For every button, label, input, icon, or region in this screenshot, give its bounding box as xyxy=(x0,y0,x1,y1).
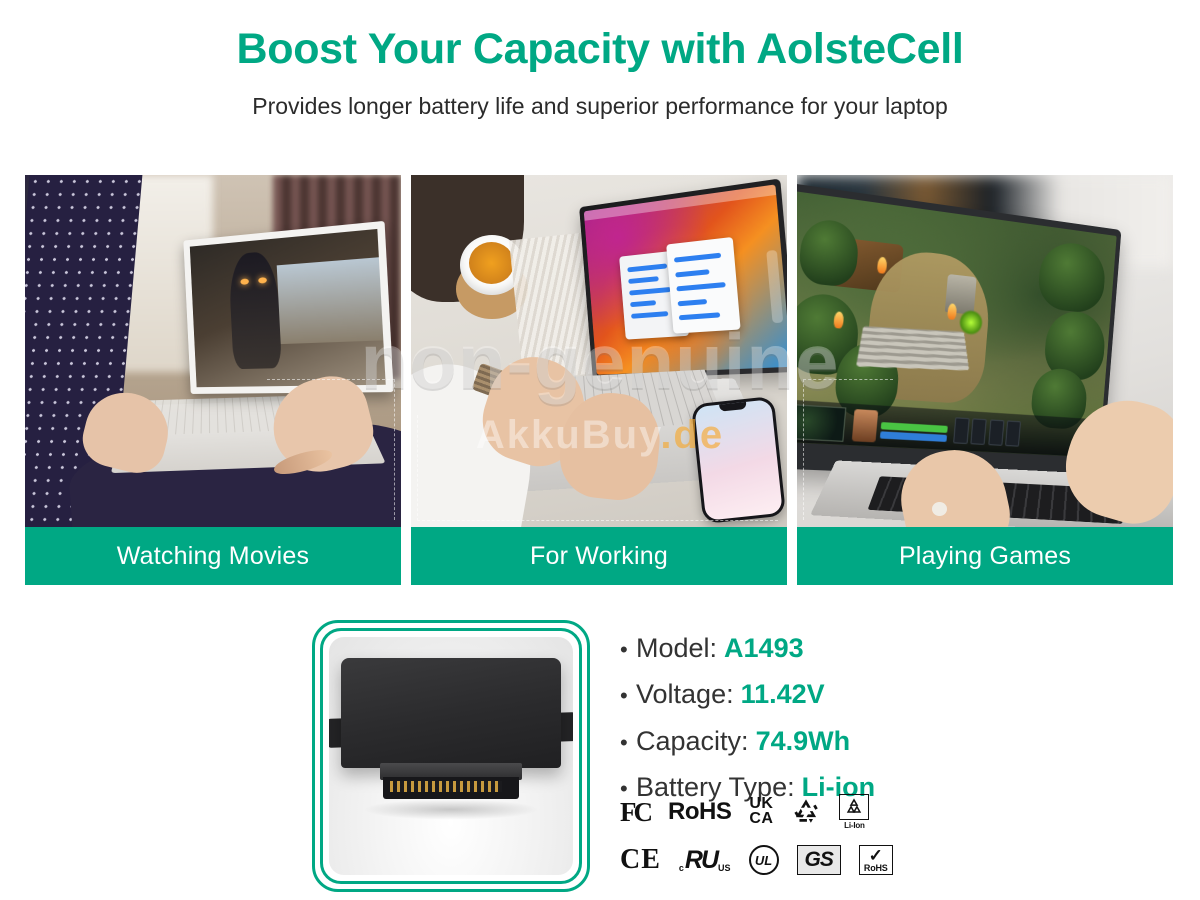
spec-row-capacity: • Capacity: 74.9Wh xyxy=(620,725,950,757)
rohs-check-icon: ✓ RoHS xyxy=(859,845,893,875)
rohs-icon: RoHS xyxy=(668,798,731,826)
c-ru-us-icon: c RU US xyxy=(679,846,731,875)
recycle-icon xyxy=(791,798,821,826)
ul-icon: UL xyxy=(749,845,779,875)
li-ion-recycle-icon: Li-Ion xyxy=(839,794,869,830)
fcc-icon: FC xyxy=(620,797,650,828)
gs-icon: GS xyxy=(797,845,841,875)
photo-battery-product xyxy=(329,637,573,875)
spec-row-voltage: • Voltage: 11.42V xyxy=(620,678,950,710)
bullet-icon: • xyxy=(620,637,636,663)
cruus-mark: RU xyxy=(685,846,717,875)
certification-badges: FC RoHS UKCA xyxy=(620,788,920,884)
use-case-card-watching-movies: Watching Movies xyxy=(25,175,401,585)
rohs-check-label: RoHS xyxy=(864,864,888,873)
photo-for-working xyxy=(411,175,787,527)
spec-value: 74.9Wh xyxy=(756,725,851,757)
spec-value: A1493 xyxy=(724,632,804,664)
ukca-line-2: CA xyxy=(749,810,773,827)
photo-watching-movies xyxy=(25,175,401,527)
use-case-card-for-working: For Working xyxy=(411,175,787,585)
use-case-label: Watching Movies xyxy=(25,527,401,585)
use-case-label: Playing Games xyxy=(797,527,1173,585)
battery-photo-frame xyxy=(312,620,590,892)
use-case-label: For Working xyxy=(411,527,787,585)
ukca-icon: UKCA xyxy=(749,797,773,826)
rohs-checkmark: ✓ xyxy=(869,847,883,864)
bullet-icon: • xyxy=(620,730,636,756)
ce-icon: CE xyxy=(620,844,661,876)
header: Boost Your Capacity with AolsteCell Prov… xyxy=(0,0,1200,120)
li-ion-label: Li-Ion xyxy=(844,821,865,830)
certification-row-2: CE c RU US UL GS ✓ RoHS xyxy=(620,836,920,884)
cruus-prefix: c xyxy=(679,863,684,875)
spec-row-model: • Model: A1493 xyxy=(620,632,950,664)
spec-label: Capacity: xyxy=(636,725,749,757)
bullet-icon: • xyxy=(620,683,636,709)
use-case-cards: Watching Movies xyxy=(25,175,1175,585)
cruus-suffix: US xyxy=(718,863,731,875)
spec-label: Voltage: xyxy=(636,678,734,710)
photo-playing-games xyxy=(797,175,1173,527)
certification-row-1: FC RoHS UKCA xyxy=(620,788,920,836)
product-feature-banner: Boost Your Capacity with AolsteCell Prov… xyxy=(0,0,1200,900)
page-title: Boost Your Capacity with AolsteCell xyxy=(0,26,1200,73)
product-detail-section: • Model: A1493 • Voltage: 11.42V • Capac… xyxy=(0,612,1200,900)
spec-value: 11.42V xyxy=(741,678,825,710)
page-subtitle: Provides longer battery life and superio… xyxy=(0,93,1200,120)
use-case-card-playing-games: Playing Games xyxy=(797,175,1173,585)
spec-label: Model: xyxy=(636,632,717,664)
